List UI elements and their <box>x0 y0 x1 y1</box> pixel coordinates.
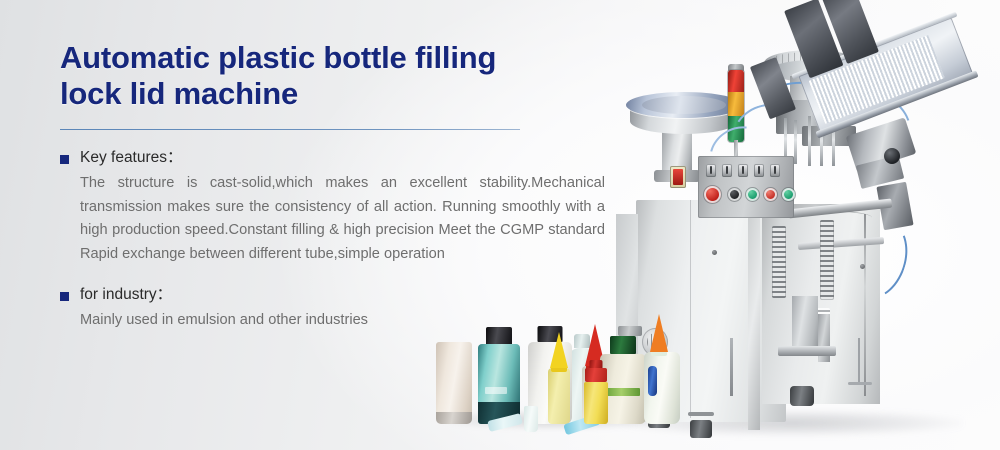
nozzle-tip-orange <box>650 314 668 352</box>
square-bullet-icon <box>60 292 69 301</box>
machine-support-post <box>792 296 818 352</box>
stack-light-red <box>728 70 744 92</box>
nozzle-tip-yellow <box>550 332 568 368</box>
bottle-cap-red <box>590 360 603 368</box>
push-button-red[interactable] <box>764 188 777 201</box>
bottle-small-labeled <box>584 362 608 424</box>
machine-cabinet-lock <box>712 250 717 255</box>
bottles-photo <box>432 296 682 428</box>
emergency-stop-button[interactable] <box>704 186 721 203</box>
square-bullet-icon <box>60 155 69 164</box>
stack-light-amber <box>728 92 744 116</box>
blue-applicator <box>648 366 657 396</box>
selector-switch[interactable] <box>722 164 732 177</box>
bottle-label-green <box>606 388 640 396</box>
bowl-feeder-track <box>642 96 726 114</box>
push-button-green[interactable] <box>782 188 795 201</box>
machine-cabinet-edge <box>748 198 760 430</box>
machine-caster <box>790 386 814 406</box>
drive-wheel <box>884 148 900 164</box>
bottle-body-yellow-label <box>584 382 608 424</box>
tube-base <box>436 412 472 424</box>
feature-block-key-features: Key features： The structure is cast-soli… <box>60 148 605 266</box>
bottle-teal-cosmetic <box>478 328 520 424</box>
bottle-label-red <box>585 368 607 382</box>
main-power-switch[interactable] <box>670 166 686 188</box>
feature-body: The structure is cast-solid,which makes … <box>60 172 605 266</box>
clear-vial <box>524 406 538 432</box>
stand-foot <box>848 382 872 385</box>
page-title: Automatic plastic bottle fillinglock lid… <box>60 40 605 112</box>
push-button-black[interactable] <box>728 188 741 201</box>
product-banner: Automatic plastic bottle fillinglock lid… <box>0 0 1000 450</box>
selector-switch[interactable] <box>754 164 764 177</box>
machine-adjustable-foot <box>690 420 712 438</box>
bottle-beige-tube <box>436 342 472 424</box>
bottle-cap-green <box>610 336 636 354</box>
bottle-body <box>548 368 570 424</box>
industry-heading: for industry： <box>80 285 172 305</box>
discharge-tray <box>778 346 836 356</box>
page-title-line-2: lock lid machine <box>60 76 298 111</box>
bottle-white-orange-nozzle <box>644 308 680 424</box>
clamp-rod <box>730 338 733 396</box>
machine-cabinet-seam <box>690 200 691 418</box>
selector-switch[interactable] <box>770 164 780 177</box>
machine-foot-pad <box>688 412 714 416</box>
title-divider <box>60 129 520 130</box>
compression-spring <box>820 220 834 300</box>
feature-heading-row: Key features： <box>60 148 605 168</box>
selector-switch[interactable] <box>706 164 716 177</box>
push-button-green[interactable] <box>746 188 759 201</box>
page-title-line-1: Automatic plastic bottle filling <box>60 40 496 75</box>
bottle-yellow-nozzle <box>548 320 570 424</box>
compression-spring <box>772 226 786 298</box>
feature-heading: Key features： <box>80 148 183 168</box>
bottle-cap-black <box>486 327 512 344</box>
bottle-label <box>485 387 507 394</box>
selector-switch[interactable] <box>738 164 748 177</box>
stand-rod <box>858 338 860 384</box>
